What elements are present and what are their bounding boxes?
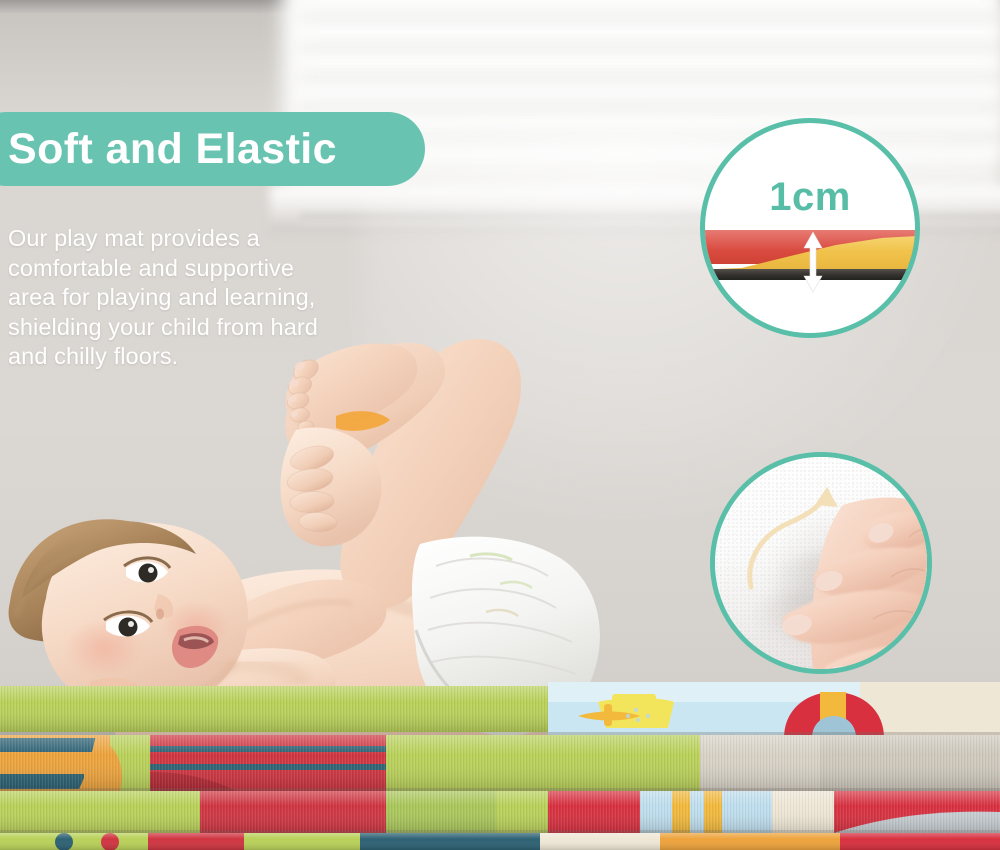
headline-text: Soft and Elastic xyxy=(8,125,337,174)
rebound-callout xyxy=(710,452,932,674)
description-block: Our play mat provides a comfortable and … xyxy=(8,224,408,372)
description-line-1: Our play mat provides a xyxy=(8,224,408,254)
thickness-arrow-icon xyxy=(801,231,825,293)
headline-badge: Soft and Elastic xyxy=(0,112,425,186)
description-line-2: comfortable and supportive xyxy=(8,254,408,284)
thickness-callout: 1cm xyxy=(700,118,920,338)
description-line-3: area for playing and learning, xyxy=(8,283,408,313)
thickness-label: 1cm xyxy=(705,175,915,220)
description-line-4: shielding your child from hard xyxy=(8,313,408,343)
promo-image: Soft and Elastic Our play mat provides a… xyxy=(0,0,1000,850)
description-line-5: and chilly floors. xyxy=(8,342,408,372)
play-mat xyxy=(0,676,1000,850)
rebound-arrow-icon xyxy=(743,483,861,601)
